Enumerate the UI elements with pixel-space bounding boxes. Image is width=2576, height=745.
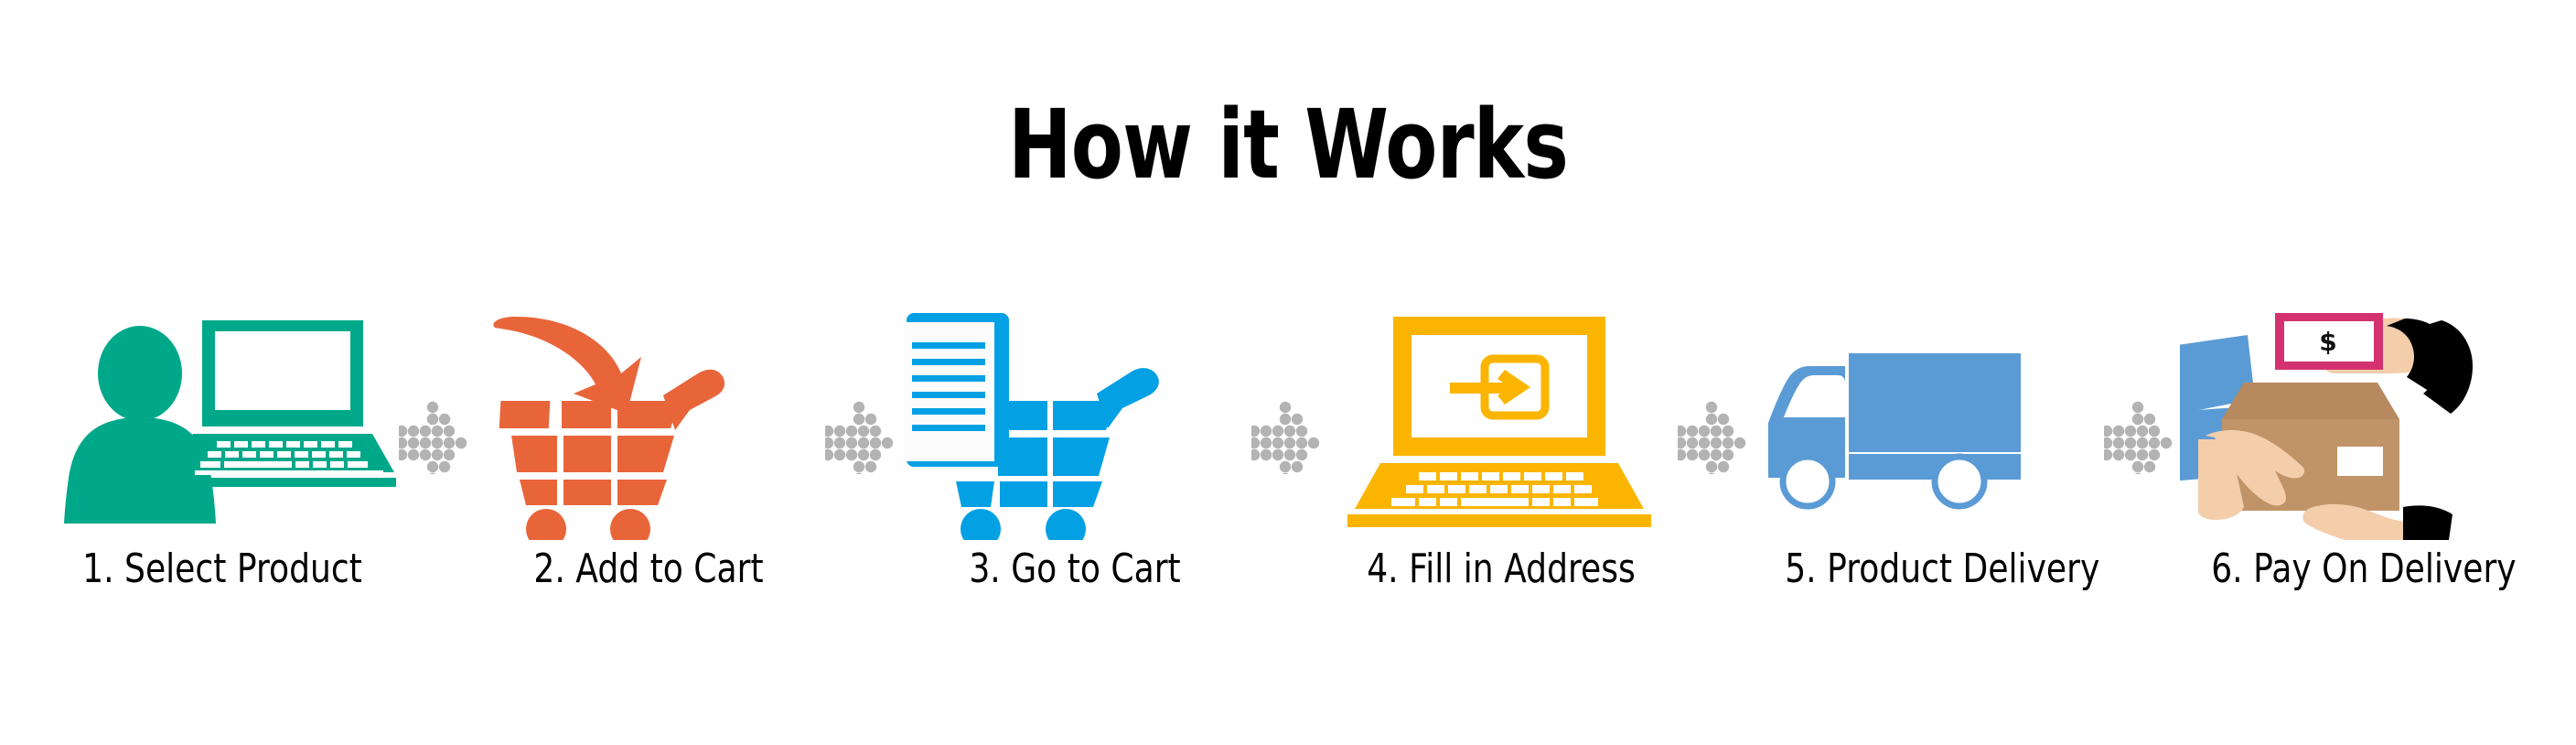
step-5-product-delivery[interactable]: 5. Product Delivery — [1754, 302, 2101, 686]
infographic-root: How it Works — [0, 0, 2576, 745]
dotted-arrow-right-icon — [1251, 401, 1325, 474]
dotted-arrow-right-icon — [399, 401, 472, 474]
page-title: How it Works — [258, 97, 2319, 192]
step-1-label: 1. Select Product — [80, 547, 365, 591]
separator-4 — [1675, 302, 1754, 686]
shipping-label — [2337, 447, 2383, 476]
step-2-label: 2. Add to Cart — [506, 547, 791, 591]
cart-with-arrow-icon — [475, 302, 822, 540]
step-1-select-product[interactable]: 1. Select Product — [48, 302, 396, 686]
steps-container: 1. Select Product — [0, 302, 2576, 686]
money-note: $ — [2275, 313, 2383, 370]
separator-3 — [1249, 302, 1327, 686]
step-5-label: 5. Product Delivery — [1785, 547, 2070, 591]
step-2-add-to-cart[interactable]: 2. Add to Cart — [475, 302, 822, 686]
dotted-arrow-right-icon — [1678, 401, 1751, 474]
step-3-label: 3. Go to Cart — [932, 547, 1218, 591]
step-4-label: 4. Fill in Address — [1358, 547, 1644, 591]
laptop-login-form-icon — [1327, 302, 1675, 540]
separator-2 — [822, 302, 901, 686]
step-4-fill-in-address[interactable]: 4. Fill in Address — [1327, 302, 1675, 686]
step-6-label: 6. Pay On Delivery — [2211, 547, 2496, 591]
delivery-truck-icon — [1754, 302, 2101, 540]
step-6-pay-on-delivery[interactable]: $ — [2180, 302, 2528, 686]
hands-exchange-box-and-money-icon: $ — [2180, 302, 2528, 540]
step-3-go-to-cart[interactable]: 3. Go to Cart — [901, 302, 1249, 686]
separator-1 — [396, 302, 475, 686]
document-with-cart-icon — [901, 302, 1249, 540]
step-2-art — [475, 302, 822, 540]
step-6-art: $ — [2180, 302, 2528, 540]
money-symbol: $ — [2319, 327, 2336, 357]
step-1-art — [48, 302, 396, 540]
person-with-laptop-icon — [48, 302, 396, 540]
separator-5 — [2101, 302, 2180, 686]
step-3-art — [901, 302, 1249, 540]
step-5-art — [1754, 302, 2101, 540]
step-4-art — [1327, 302, 1675, 540]
dotted-arrow-right-icon — [2104, 401, 2177, 474]
dotted-arrow-right-icon — [825, 401, 898, 474]
